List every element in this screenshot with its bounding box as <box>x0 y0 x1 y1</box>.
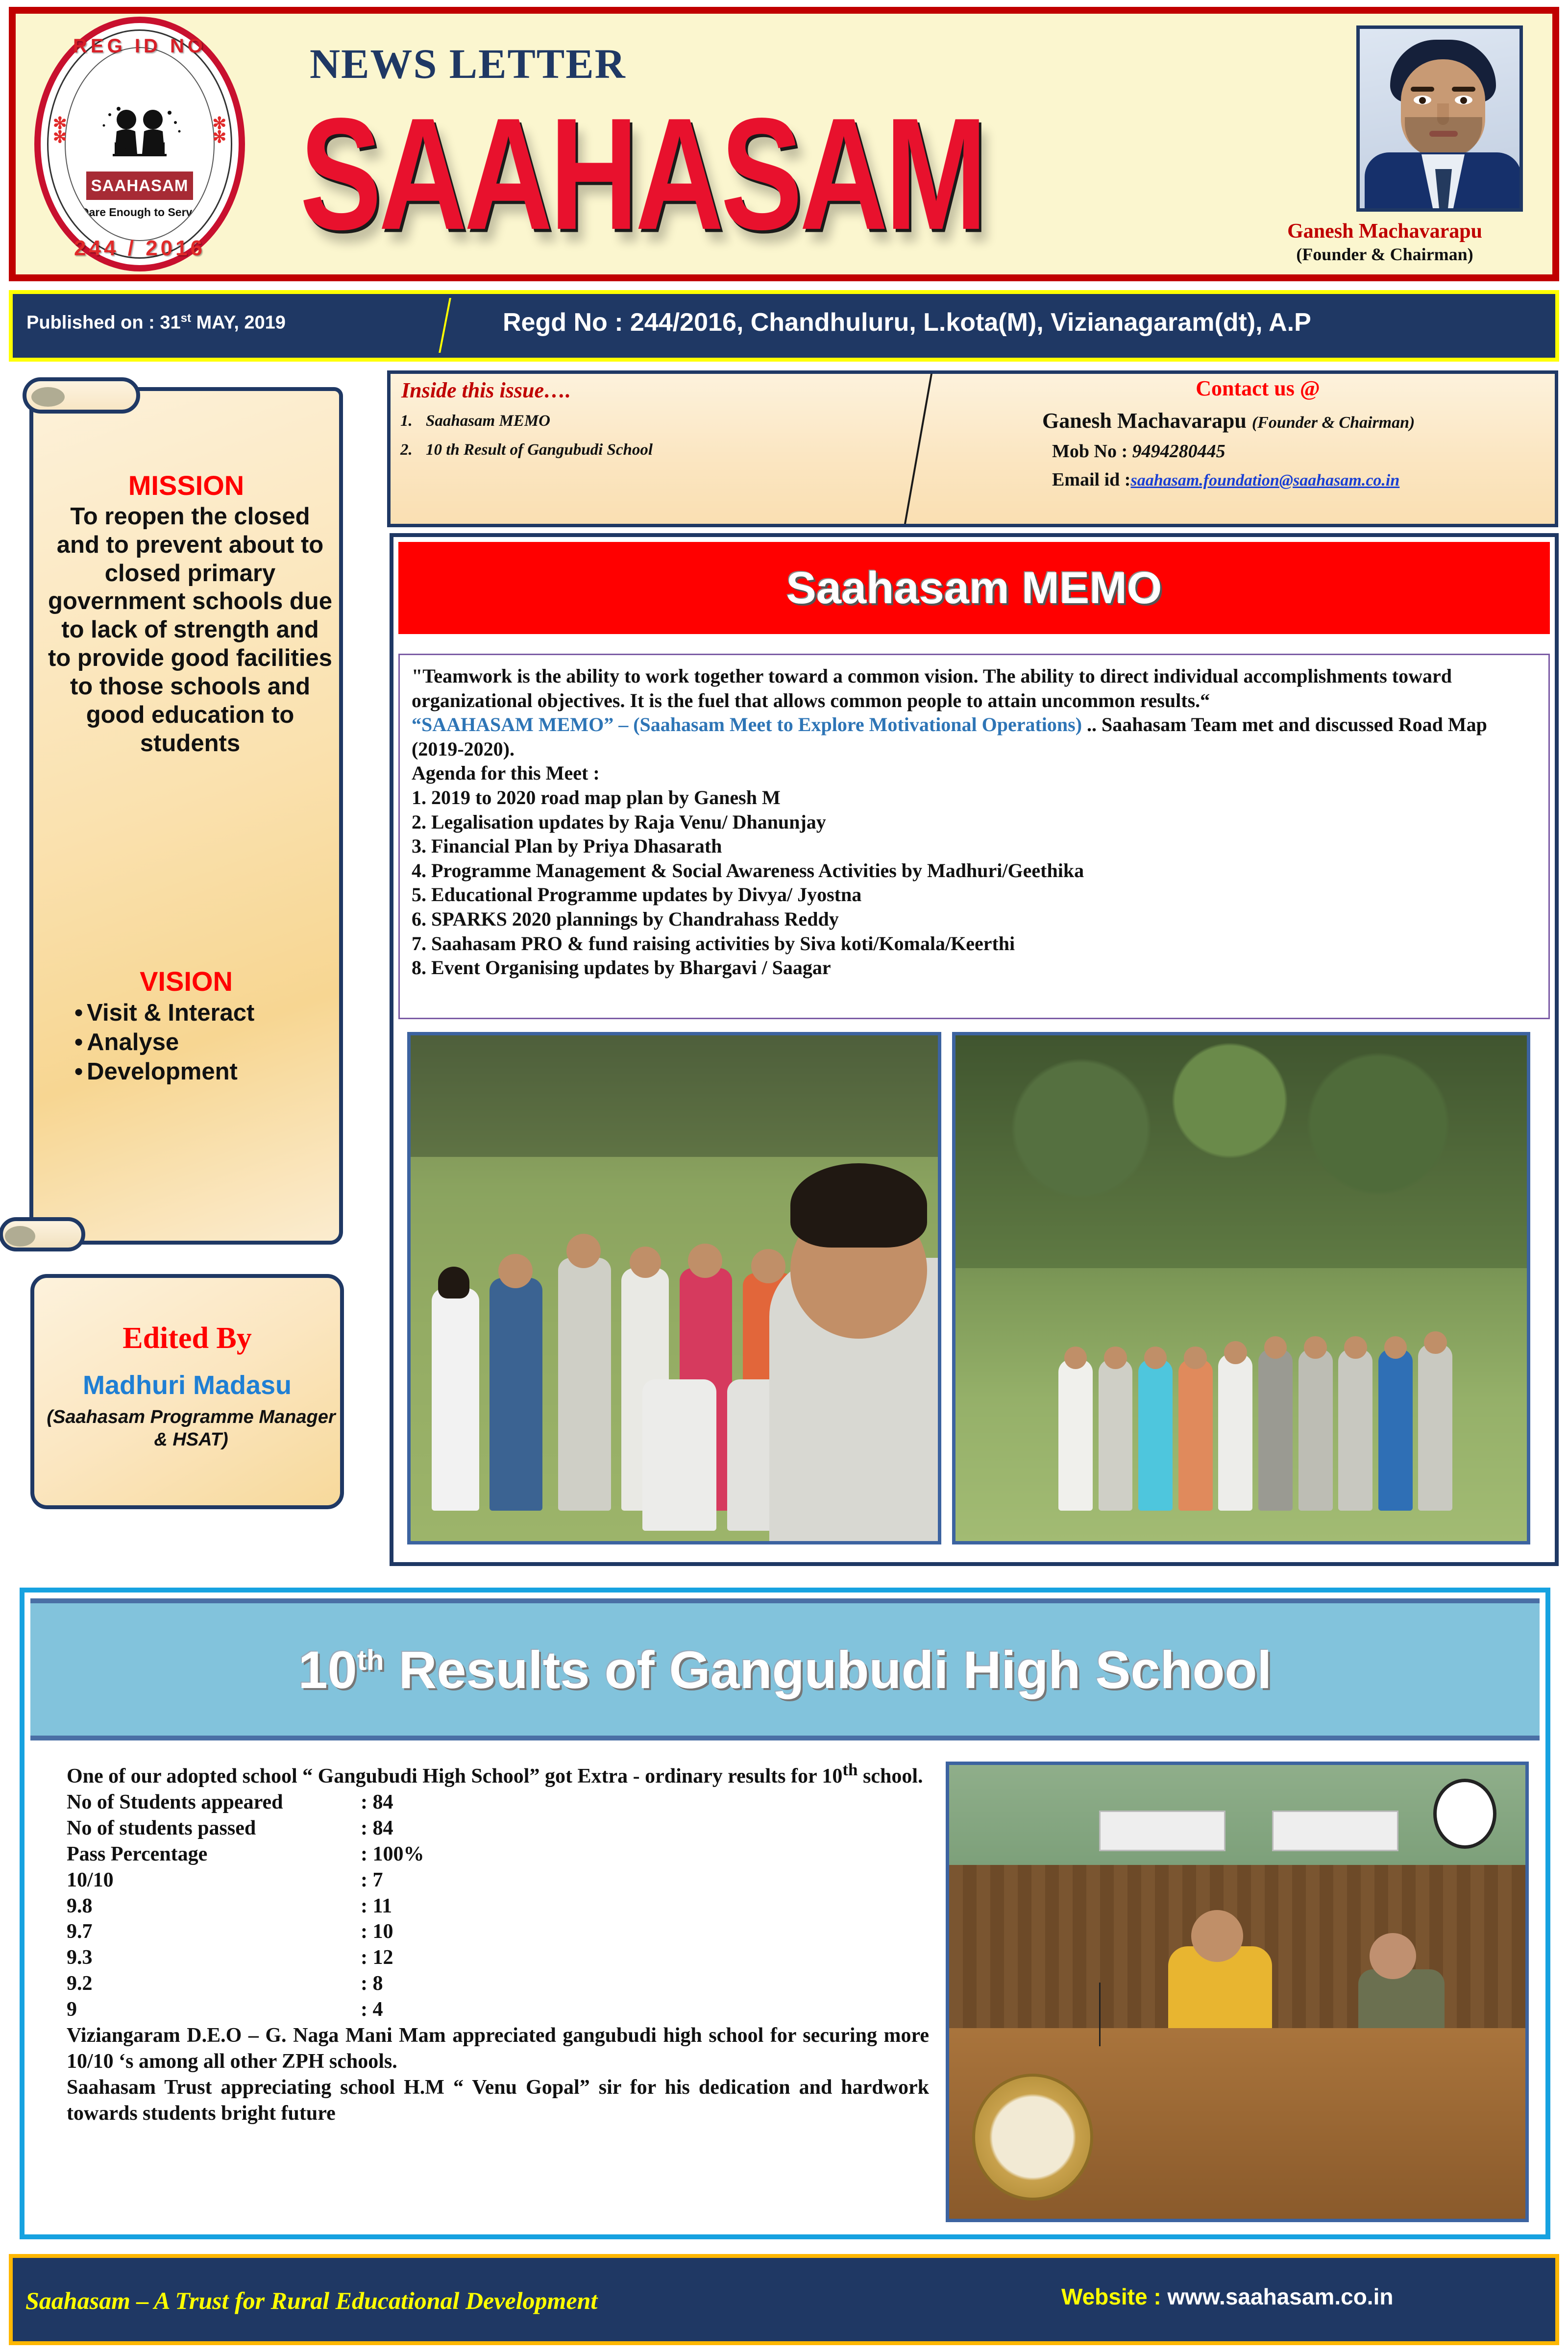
website-url[interactable]: www.saahasam.co.in <box>1167 2284 1393 2309</box>
list-item: 7. Saahasam PRO & fund raising activitie… <box>412 931 1537 956</box>
stat-row: 9.2: 8 <box>67 1971 929 1997</box>
page-title: SAAHASAM <box>300 82 984 265</box>
stat-row: No of Students appeared: 84 <box>67 1789 929 1815</box>
mobile-label: Mob No : <box>1052 441 1132 462</box>
list-item: Visit & Interact <box>74 999 339 1028</box>
published-suffix: MAY, 2019 <box>191 313 286 333</box>
item-number: 1. <box>400 412 426 430</box>
mobile-number: 9494280445 <box>1132 441 1225 462</box>
results-intro-sup: th <box>842 1760 857 1779</box>
memo-agenda-label: Agenda for this Meet : <box>412 761 1537 785</box>
edited-by-box: Edited By Madhuri Madasu (Saahasam Progr… <box>30 1274 344 1509</box>
stat-row: 9.3: 12 <box>67 1945 929 1971</box>
stat-row: 10/10: 7 <box>67 1867 929 1893</box>
published-on-text: Published on : 31st MAY, 2019 <box>26 312 286 334</box>
team-selfie-photo <box>407 1032 941 1544</box>
mission-heading: MISSION <box>33 469 339 501</box>
footer-tagline: Saahasam – A Trust for Rural Educational… <box>25 2286 597 2315</box>
stat-value: : 4 <box>361 1997 383 2023</box>
saahasam-memo-section: Saahasam MEMO "Teamwork is the ability t… <box>390 533 1559 1566</box>
two-children-reading-icon <box>93 106 186 167</box>
list-item: Analyse <box>74 1028 339 1057</box>
contact-email-line: Email id :saahasam.foundation@saahasam.c… <box>1052 469 1399 490</box>
logo-reg-arc-text: REG ID NO <box>34 35 245 57</box>
list-item: 4. Programme Management & Social Awarene… <box>412 858 1537 883</box>
list-item: 1. 2019 to 2020 road map plan by Ganesh … <box>412 785 1537 810</box>
list-item: 5. Educational Programme updates by Divy… <box>412 882 1537 907</box>
stat-value: : 11 <box>361 1893 392 1919</box>
stat-key: 9 <box>67 1997 361 2023</box>
logo-star-left-icon: ✻✻ <box>53 117 67 145</box>
stat-value: : 7 <box>361 1867 383 1893</box>
published-prefix: Published on : 31 <box>26 313 181 333</box>
logo-star-right-icon: ✻✻ <box>213 117 227 145</box>
memo-photo-row <box>407 1032 1541 1551</box>
results-heading-post: Results of Gangubudi High School <box>384 1640 1272 1699</box>
memo-agenda-list: 1. 2019 to 2020 road map plan by Ganesh … <box>412 785 1537 980</box>
inside-this-issue-list: 1.Saahasam MEMO 2.10 th Result of Gangub… <box>400 412 900 470</box>
published-sup: st <box>181 312 191 325</box>
list-item[interactable]: 2.10 th Result of Gangubudi School <box>400 441 900 459</box>
stat-value: : 84 <box>361 1815 393 1841</box>
contact-mobile-line: Mob No : 9494280445 <box>1052 441 1225 462</box>
page-footer: Saahasam – A Trust for Rural Educational… <box>9 2254 1559 2345</box>
list-item: Development <box>74 1057 339 1087</box>
scroll-curl-top <box>23 377 140 414</box>
scroll-curl-bottom <box>0 1217 85 1251</box>
list-item: 8. Event Organising updates by Bhargavi … <box>412 955 1537 980</box>
stat-row: No of students passed: 84 <box>67 1815 929 1841</box>
contact-person-name: Ganesh Machavarapu <box>1042 409 1247 433</box>
item-label: 10 th Result of Gangubudi School <box>426 441 653 459</box>
stat-key: 10/10 <box>67 1867 361 1893</box>
logo-brand-text: SAAHASAM <box>91 176 189 195</box>
email-link[interactable]: saahasam.foundation@saahasam.co.in <box>1130 471 1399 490</box>
list-item: 2. Legalisation updates by Raja Venu/ Dh… <box>412 810 1537 834</box>
results-intro-b: school. <box>857 1765 923 1788</box>
tenth-results-section: 10th Results of Gangubudi High School On… <box>20 1588 1550 2239</box>
results-intro-a: One of our adopted school “ Gangubudi Hi… <box>67 1765 842 1788</box>
inside-this-issue-title: Inside this issue…. <box>401 378 571 403</box>
contact-name-line: Ganesh Machavarapu (Founder & Chairman) <box>1042 408 1415 433</box>
results-body: One of our adopted school “ Gangubudi Hi… <box>67 1759 929 2127</box>
memo-heading: Saahasam MEMO <box>786 563 1162 614</box>
stat-row: Pass Percentage: 100% <box>67 1841 929 1867</box>
memo-highlight: “SAAHASAM MEMO” – (Saahasam Meet to Expl… <box>412 713 1082 735</box>
chairman-role: (Founder & Chairman) <box>1228 244 1542 265</box>
list-item: 3. Financial Plan by Priya Dhasarath <box>412 834 1537 858</box>
stat-value: : 84 <box>361 1789 393 1815</box>
item-label: Saahasam MEMO <box>426 412 550 430</box>
masthead: SAAHASAM Dare Enough to Serve REG ID NO … <box>9 7 1559 281</box>
stat-row: 9: 4 <box>67 1997 929 2023</box>
mission-vision-scroll: MISSION To reopen the closed and to prev… <box>29 387 343 1245</box>
strip-divider <box>439 298 451 353</box>
results-heading-sup: th <box>357 1644 384 1676</box>
stat-key: 9.3 <box>67 1945 361 1971</box>
item-number: 2. <box>400 441 426 459</box>
stat-key: No of Students appeared <box>67 1789 361 1815</box>
stat-row: 9.8: 11 <box>67 1893 929 1919</box>
logo-brand-brush: SAAHASAM <box>86 171 193 200</box>
email-label: Email id : <box>1052 469 1130 490</box>
publication-strip: Published on : 31st MAY, 2019 Regd No : … <box>9 290 1559 362</box>
contact-person-role: (Founder & Chairman) <box>1252 414 1415 432</box>
team-park-photo <box>952 1032 1530 1544</box>
registration-text: Regd No : 244/2016, Chandhuluru, L.kota(… <box>503 308 1311 337</box>
stat-key: No of students passed <box>67 1815 361 1841</box>
infobox-divider <box>904 374 932 524</box>
vision-list: Visit & Interact Analyse Development <box>74 999 339 1086</box>
results-note-2: Saahasam Trust appreciating school H.M “… <box>67 2075 929 2127</box>
newsletter-label: NEWS LETTER <box>310 39 626 88</box>
footer-website: Website : www.saahasam.co.in <box>1061 2283 1393 2310</box>
logo-inner-disc: SAAHASAM Dare Enough to Serve <box>65 47 215 241</box>
website-label: Website : <box>1061 2284 1167 2309</box>
logo-reg-number-text: 244 / 2016 <box>34 236 245 261</box>
stat-value: : 100% <box>361 1841 424 1867</box>
stat-key: 9.8 <box>67 1893 361 1919</box>
logo-tagline: Dare Enough to Serve <box>81 206 198 219</box>
saahasam-logo: SAAHASAM Dare Enough to Serve REG ID NO … <box>34 17 245 271</box>
stat-key: Pass Percentage <box>67 1841 361 1867</box>
stat-value: : 10 <box>361 1919 393 1945</box>
contact-us-title: Contact us @ <box>1086 376 1429 401</box>
inside-contact-box: Inside this issue…. 1.Saahasam MEMO 2.10… <box>387 370 1558 527</box>
vision-heading: VISION <box>33 965 339 997</box>
results-note-1: Viziangaram D.E.O – G. Naga Mani Mam app… <box>67 2023 929 2075</box>
list-item[interactable]: 1.Saahasam MEMO <box>400 412 900 430</box>
edited-by-heading: Edited By <box>34 1321 340 1356</box>
stat-row: 9.7: 10 <box>67 1919 929 1945</box>
memo-highlight-line: “SAAHASAM MEMO” – (Saahasam Meet to Expl… <box>412 712 1537 761</box>
memo-heading-bar: Saahasam MEMO <box>398 542 1550 634</box>
results-heading: 10th Results of Gangubudi High School <box>298 1639 1272 1700</box>
stat-value: : 8 <box>361 1971 383 1997</box>
stat-key: 9.7 <box>67 1919 361 1945</box>
editor-name: Madhuri Madasu <box>34 1370 340 1400</box>
memo-body: "Teamwork is the ability to work togethe… <box>398 654 1550 1019</box>
results-heading-bar: 10th Results of Gangubudi High School <box>30 1598 1540 1740</box>
list-item: 6. SPARKS 2020 plannings by Chandrahass … <box>412 907 1537 931</box>
results-intro: One of our adopted school “ Gangubudi Hi… <box>67 1759 929 1789</box>
editor-role: (Saahasam Programme Manager & HSAT) <box>46 1406 336 1451</box>
results-heading-pre: 10 <box>298 1640 357 1699</box>
mission-body: To reopen the closed and to prevent abou… <box>48 503 332 758</box>
stat-value: : 12 <box>361 1945 393 1971</box>
chairman-photo <box>1356 25 1523 212</box>
memo-quote: "Teamwork is the ability to work togethe… <box>412 664 1537 712</box>
chairman-name: Ganesh Machavarapu <box>1228 220 1542 243</box>
conference-hall-photo <box>946 1762 1529 2222</box>
stat-key: 9.2 <box>67 1971 361 1997</box>
